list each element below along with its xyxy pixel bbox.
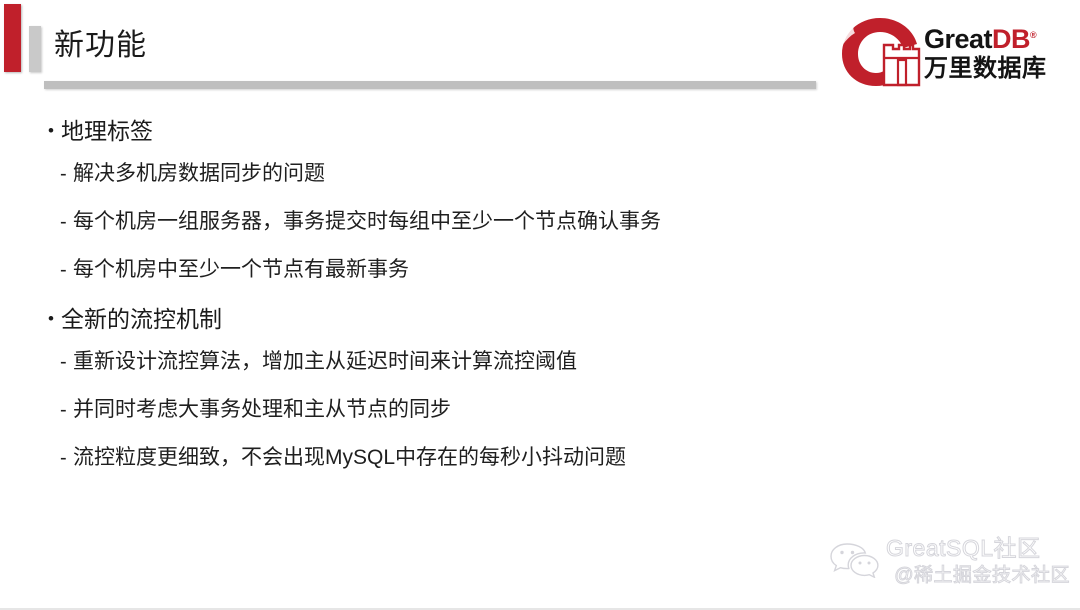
dash-marker-icon: -: [60, 348, 73, 376]
brand-word-db: DB: [992, 24, 1030, 54]
sub-bullet-label: 流控粒度更细致，不会出现MySQL中存在的每秒小抖动问题: [73, 444, 626, 472]
presentation-slide: 新功能 GreatDB® 万里数据库 • 地理标签: [0, 0, 1080, 610]
watermark: GreatSQL社区 @稀土掘金技术社区: [826, 534, 1072, 590]
sub-bullet-label: 解决多机房数据同步的问题: [73, 160, 325, 188]
dash-marker-icon: -: [60, 256, 73, 284]
sub-bullet-item: - 流控粒度更细致，不会出现MySQL中存在的每秒小抖动问题: [60, 444, 1028, 472]
sub-bullet-item: - 每个机房一组服务器，事务提交时每组中至少一个节点确认事务: [60, 208, 1028, 236]
sub-bullet-item: - 每个机房中至少一个节点有最新事务: [60, 256, 1028, 284]
sub-bullet-label: 每个机房一组服务器，事务提交时每组中至少一个节点确认事务: [73, 208, 661, 236]
sub-bullet-label: 重新设计流控算法，增加主从延迟时间来计算流控阈值: [73, 348, 577, 376]
sub-bullet-item: - 解决多机房数据同步的问题: [60, 160, 1028, 188]
title-divider-rule: [44, 81, 816, 89]
slide-body: • 地理标签 - 解决多机房数据同步的问题 - 每个机房一组服务器，事务提交时每…: [48, 108, 1028, 492]
sub-bullet-label: 并同时考虑大事务处理和主从节点的同步: [73, 396, 451, 424]
bullet-group: • 全新的流控机制 - 重新设计流控算法，增加主从延迟时间来计算流控阈值 - 并…: [48, 304, 1028, 472]
brand-logo-text: GreatDB® 万里数据库: [924, 20, 1080, 84]
dash-marker-icon: -: [60, 208, 73, 236]
brand-wordmark: GreatDB®: [924, 20, 1080, 54]
bullet-marker-icon: •: [48, 116, 61, 146]
watermark-community-label: GreatSQL社区: [884, 534, 1074, 563]
bullet-heading: • 地理标签: [48, 116, 1028, 146]
dash-marker-icon: -: [60, 160, 73, 188]
dash-marker-icon: -: [60, 396, 73, 424]
brand-word-great: Great: [924, 24, 992, 54]
bullet-group: • 地理标签 - 解决多机房数据同步的问题 - 每个机房一组服务器，事务提交时每…: [48, 116, 1028, 284]
brand-logo: GreatDB® 万里数据库: [828, 14, 1076, 90]
sub-bullet-item: - 并同时考虑大事务处理和主从节点的同步: [60, 396, 1028, 424]
greatdb-wall-icon: [828, 14, 932, 90]
bullet-heading-label: 地理标签: [61, 116, 153, 146]
watermark-text: GreatSQL社区 @稀土掘金技术社区: [884, 534, 1074, 588]
registered-trademark-icon: ®: [1030, 30, 1036, 40]
page-title: 新功能: [54, 24, 147, 68]
brand-wordmark-cn: 万里数据库: [924, 54, 1080, 84]
bullet-heading-label: 全新的流控机制: [61, 304, 222, 334]
watermark-source-label: @稀土掘金技术社区: [884, 563, 1074, 588]
wechat-icon: [828, 538, 884, 578]
accent-bar-gray: [29, 26, 41, 72]
bullet-marker-icon: •: [48, 304, 61, 334]
sub-bullet-label: 每个机房中至少一个节点有最新事务: [73, 256, 409, 284]
bullet-heading: • 全新的流控机制: [48, 304, 1028, 334]
sub-bullet-item: - 重新设计流控算法，增加主从延迟时间来计算流控阈值: [60, 348, 1028, 376]
dash-marker-icon: -: [60, 444, 73, 472]
accent-bar-red: [4, 4, 21, 72]
